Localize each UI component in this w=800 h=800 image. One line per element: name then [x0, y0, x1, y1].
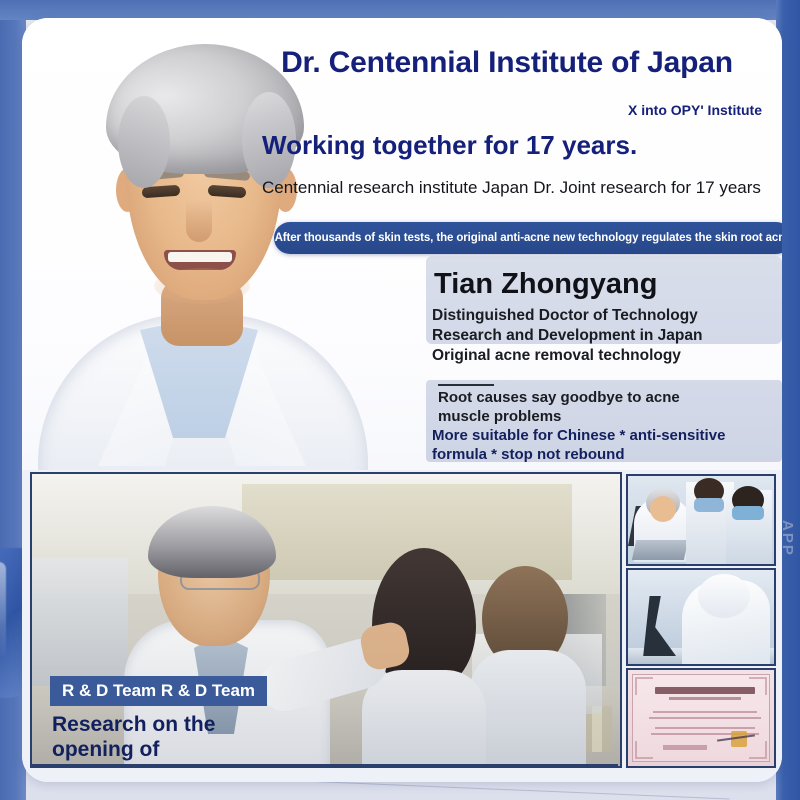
claims-highlight-line: formula * stop not rebound: [432, 445, 772, 464]
certificate-heading: [655, 687, 755, 694]
media-section: R & D Team R & D Team Research on the op…: [22, 470, 782, 782]
certificate-corner-tl: [635, 677, 653, 695]
certificate-subheading: [669, 697, 741, 700]
main-lab-photo: R & D Team R & D Team Research on the op…: [30, 472, 622, 768]
rd-team-badge: R & D Team R & D Team: [50, 676, 267, 706]
portrait-chin-shadow: [154, 268, 250, 304]
poster-subheadline: Centennial research institute Japan Dr. …: [262, 178, 782, 198]
claims-highlight-line: More suitable for Chinese * anti-sensiti…: [432, 426, 772, 445]
certificate-paper: [632, 674, 770, 762]
hero-section: Dr. Centennial Institute of Japan X into…: [22, 18, 782, 470]
institute-tagline: X into OPY' Institute: [452, 102, 762, 118]
thumb-cleanroom[interactable]: [626, 568, 776, 666]
certificate-corner-br: [749, 741, 767, 759]
thumb-lab-team[interactable]: [626, 474, 776, 566]
poster-title: Dr. Centennial Institute of Japan: [252, 46, 762, 80]
claims-primary-line: Root causes say goodbye to acne: [438, 388, 768, 407]
claims-primary-line: muscle problems: [438, 407, 768, 426]
thumb-cleanroom-microscope-icon: [636, 596, 676, 656]
poster-headline: Working together for 17 years.: [262, 130, 762, 161]
portrait-teeth: [168, 252, 232, 262]
technology-banner-text: After thousands of skin tests, the origi…: [275, 232, 782, 244]
certificate-corner-bl: [635, 741, 653, 759]
expert-credential-line: Distinguished Doctor of Technology: [432, 306, 762, 326]
main-photo-bottom-rule: [30, 764, 618, 766]
advertisement-poster: APP: [0, 0, 800, 800]
thumb-senior-doctor-face: [650, 496, 676, 522]
portrait-mouth: [164, 250, 236, 270]
claims-highlight: More suitable for Chinese * anti-sensiti…: [432, 426, 772, 464]
thumb-researcher-c-mask: [732, 506, 764, 520]
poster-card: Dr. Centennial Institute of Japan X into…: [22, 18, 782, 782]
certificate-org-name: [663, 745, 707, 750]
certificate-text-line: [649, 717, 761, 719]
expert-credential-line: Research and Development in Japan: [432, 326, 762, 346]
certificate-text-line: [655, 727, 755, 729]
rd-caption: Research on the opening of: [52, 712, 352, 762]
thumb-researcher-b-mask: [694, 498, 724, 512]
expert-name: Tian Zhongyang: [434, 268, 657, 301]
thumb-laptop: [632, 540, 688, 560]
claims-primary: Root causes say goodbye to acne muscle p…: [438, 388, 768, 426]
rd-team-badge-label: R & D Team R & D Team: [62, 681, 255, 701]
claims-divider: [438, 384, 494, 386]
rd-caption-line: opening of: [52, 737, 352, 762]
rd-caption-line: Research on the: [52, 712, 352, 737]
technology-banner: After thousands of skin tests, the origi…: [274, 222, 782, 254]
background-top-blue-band: [0, 0, 800, 20]
certificate-text-line: [653, 711, 757, 713]
expert-credential-line: Original acne removal technology: [432, 346, 762, 366]
expert-credentials: Distinguished Doctor of Technology Resea…: [432, 306, 762, 366]
thumb-certificate[interactable]: [626, 668, 776, 768]
thumb-cleanroom-hood: [698, 574, 750, 618]
portrait-nose: [186, 200, 212, 242]
